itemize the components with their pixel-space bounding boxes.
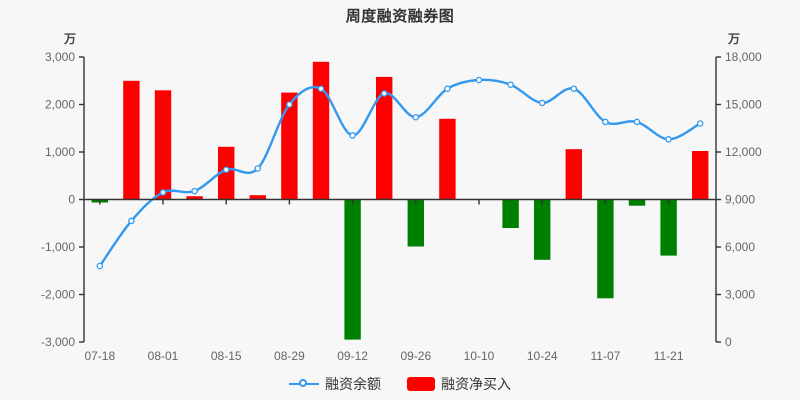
line-point-08-08[interactable] bbox=[192, 189, 197, 194]
line-point-09-19[interactable] bbox=[382, 91, 387, 96]
bar-10-31[interactable] bbox=[566, 149, 582, 199]
line-point-08-22[interactable] bbox=[255, 166, 260, 171]
bar-10-17[interactable] bbox=[502, 200, 518, 229]
chart-plot-area: 3,00018,0002,00015,0001,00012,00009,000-… bbox=[0, 0, 800, 400]
legend-item-line[interactable]: 融资余额 bbox=[289, 374, 381, 394]
line-point-10-10[interactable] bbox=[476, 77, 481, 82]
tick-labels-group: 3,00018,0002,00015,0001,00012,00009,000-… bbox=[41, 50, 762, 363]
x-tick-label-11-21: 11-21 bbox=[654, 349, 684, 363]
x-tick-label-08-15: 08-15 bbox=[211, 349, 242, 363]
bar-10-03[interactable] bbox=[439, 119, 455, 200]
line-point-07-25[interactable] bbox=[129, 218, 134, 223]
line-point-09-26[interactable] bbox=[413, 115, 418, 120]
left-tick-label-1: 2,000 bbox=[45, 98, 75, 112]
right-tick-label-0: 18,000 bbox=[725, 50, 762, 64]
bar-11-28[interactable] bbox=[692, 151, 708, 200]
left-tick-label-2: 1,000 bbox=[45, 145, 75, 159]
left-tick-label-6: -3,000 bbox=[41, 335, 75, 349]
bar-11-07[interactable] bbox=[597, 200, 613, 299]
bar-08-29[interactable] bbox=[281, 93, 297, 200]
line-point-10-03[interactable] bbox=[445, 86, 450, 91]
line-point-11-21[interactable] bbox=[666, 137, 671, 142]
x-tick-label-10-24: 10-24 bbox=[527, 349, 558, 363]
right-tick-label-4: 6,000 bbox=[725, 240, 755, 254]
bar-11-14[interactable] bbox=[629, 200, 645, 206]
x-tick-label-09-12: 09-12 bbox=[337, 349, 368, 363]
line-point-10-24[interactable] bbox=[540, 100, 545, 105]
line-point-10-17[interactable] bbox=[508, 82, 513, 87]
bar-09-05[interactable] bbox=[313, 62, 329, 200]
line-point-09-12[interactable] bbox=[350, 133, 355, 138]
x-tick-label-08-29: 08-29 bbox=[274, 349, 305, 363]
line-point-11-14[interactable] bbox=[634, 119, 639, 124]
left-tick-label-5: -2,000 bbox=[41, 288, 75, 302]
bar-09-26[interactable] bbox=[408, 200, 424, 247]
legend-label-bar: 融资净买入 bbox=[441, 374, 511, 394]
x-tick-label-08-01: 08-01 bbox=[148, 349, 179, 363]
legend-label-line: 融资余额 bbox=[325, 374, 381, 394]
right-tick-label-2: 12,000 bbox=[725, 145, 762, 159]
right-tick-label-6: 0 bbox=[725, 335, 732, 349]
line-point-07-18[interactable] bbox=[97, 263, 102, 268]
bar-08-01[interactable] bbox=[155, 90, 171, 199]
bar-swatch-icon bbox=[407, 377, 435, 391]
legend-item-bar[interactable]: 融资净买入 bbox=[407, 374, 511, 394]
x-tick-label-11-07: 11-07 bbox=[590, 349, 620, 363]
right-tick-label-3: 9,000 bbox=[725, 193, 755, 207]
bar-07-25[interactable] bbox=[123, 81, 139, 200]
bar-09-12[interactable] bbox=[344, 200, 360, 340]
line-point-11-28[interactable] bbox=[698, 121, 703, 126]
line-point-08-29[interactable] bbox=[287, 102, 292, 107]
bar-10-24[interactable] bbox=[534, 200, 550, 260]
left-tick-label-0: 3,000 bbox=[45, 50, 75, 64]
bar-11-21[interactable] bbox=[660, 200, 676, 256]
line-point-11-07[interactable] bbox=[603, 119, 608, 124]
x-tick-label-07-18: 07-18 bbox=[84, 349, 115, 363]
right-tick-label-1: 15,000 bbox=[725, 98, 762, 112]
line-marker-icon bbox=[289, 378, 319, 390]
chart-container: 周度融资融券图 万 万 3,00018,0002,00015,0001,0001… bbox=[0, 0, 800, 400]
chart-legend: 融资余额 融资净买入 bbox=[0, 374, 800, 394]
x-tick-label-09-26: 09-26 bbox=[400, 349, 431, 363]
right-tick-label-5: 3,000 bbox=[725, 288, 755, 302]
left-tick-label-4: -1,000 bbox=[41, 240, 75, 254]
line-point-08-15[interactable] bbox=[224, 167, 229, 172]
line-point-09-05[interactable] bbox=[318, 86, 323, 91]
axes-group bbox=[79, 57, 721, 342]
left-tick-label-3: 0 bbox=[68, 193, 75, 207]
line-point-10-31[interactable] bbox=[571, 86, 576, 91]
line-point-08-01[interactable] bbox=[160, 190, 165, 195]
x-tick-label-10-10: 10-10 bbox=[464, 349, 495, 363]
